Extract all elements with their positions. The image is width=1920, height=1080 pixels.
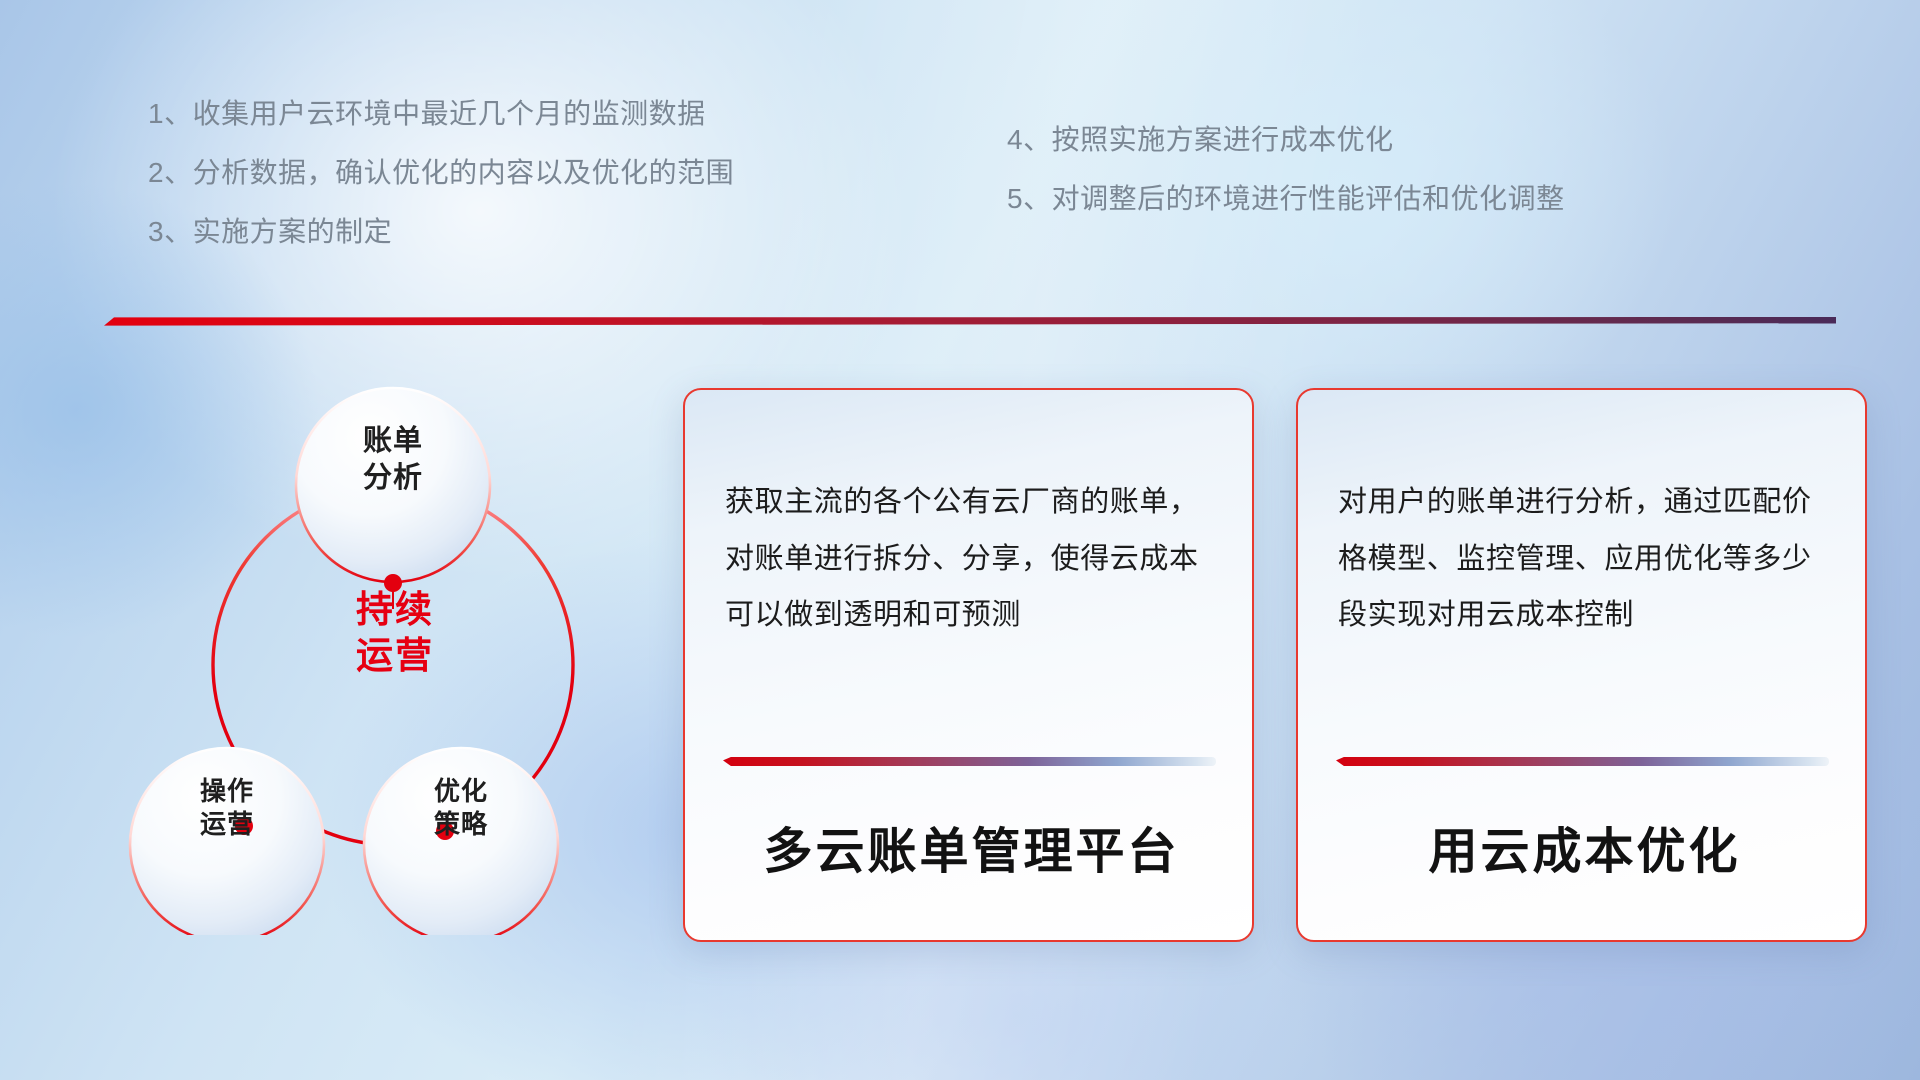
feature-card-billing-platform[interactable]: 获取主流的各个公有云厂商的账单，对账单进行拆分、分享，使得云成本可以做到透明和可… xyxy=(683,388,1254,942)
step-item-1: 1、收集用户云环境中最近几个月的监测数据 xyxy=(148,100,734,128)
diagram-node-label-strategy: 优化 策略 xyxy=(371,775,551,842)
slide-canvas: 1、收集用户云环境中最近几个月的监测数据 2、分析数据，确认优化的内容以及优化的… xyxy=(0,0,1920,1080)
steps-list-left: 1、收集用户云环境中最近几个月的监测数据 2、分析数据，确认优化的内容以及优化的… xyxy=(148,100,734,277)
steps-list-right: 4、按照实施方案进行成本优化 5、对调整后的环境进行性能评估和优化调整 xyxy=(1007,126,1565,244)
diagram-node-label-operations: 操作 运营 xyxy=(137,775,317,842)
card-divider xyxy=(723,757,1216,766)
step-item-2: 2、分析数据，确认优化的内容以及优化的范围 xyxy=(148,159,734,187)
card-title: 多云账单管理平台 xyxy=(721,812,1222,883)
continuous-operation-diagram: 账单 分析 操作 运营 优化 策略 持续 运营 xyxy=(95,355,625,935)
card-body-text: 对用户的账单进行分析，通过匹配价格模型、监控管理、应用优化等多少段实现对用云成本… xyxy=(1338,474,1837,644)
step-item-4: 4、按照实施方案进行成本优化 xyxy=(1007,126,1565,154)
diagram-center-label: 持续 运营 xyxy=(295,587,495,680)
card-divider xyxy=(1336,757,1829,766)
feature-card-cost-optimization[interactable]: 对用户的账单进行分析，通过匹配价格模型、监控管理、应用优化等多少段实现对用云成本… xyxy=(1296,388,1867,942)
section-divider xyxy=(104,313,1836,322)
step-item-3: 3、实施方案的制定 xyxy=(148,218,734,246)
card-body-text: 获取主流的各个公有云厂商的账单，对账单进行拆分、分享，使得云成本可以做到透明和可… xyxy=(725,474,1224,644)
diagram-node-label-billing: 账单 分析 xyxy=(303,423,483,497)
card-title: 用云成本优化 xyxy=(1334,812,1835,883)
step-item-5: 5、对调整后的环境进行性能评估和优化调整 xyxy=(1007,185,1565,213)
